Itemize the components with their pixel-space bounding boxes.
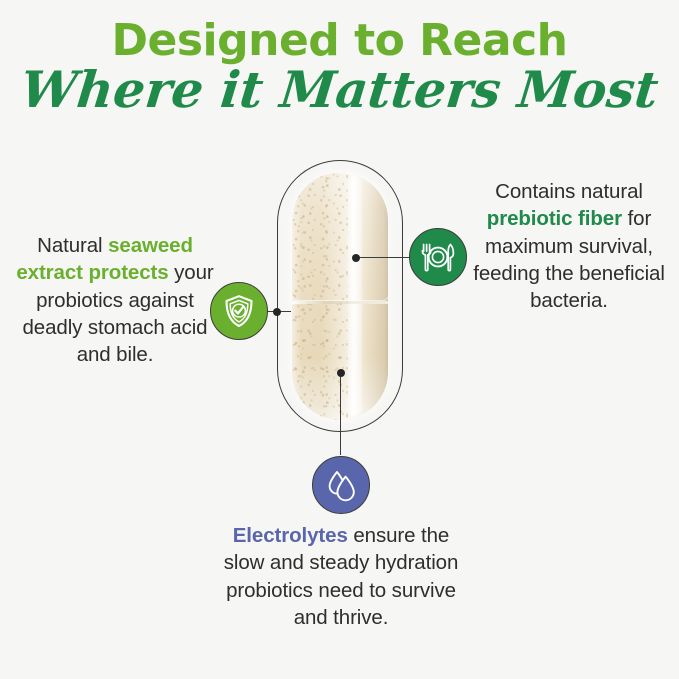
connector-dot-left — [273, 308, 281, 316]
infographic-canvas: Designed to Reach Where it Matters Most — [0, 0, 679, 679]
callout-text-bottom: Electrolytes ensure the slow and steady … — [222, 522, 460, 631]
plate-fork-knife-badge[interactable] — [409, 228, 467, 286]
capsule-seam — [292, 301, 388, 304]
connector-dot-right — [352, 254, 360, 262]
callout-left-prefix: Natural — [37, 234, 108, 257]
connector-dot-bottom — [337, 369, 345, 377]
callout-right-prefix: Contains natural — [495, 180, 643, 203]
shield-check-icon — [221, 293, 257, 329]
plate-fork-knife-icon — [419, 238, 457, 276]
callout-right-highlight: prebiotic fiber — [487, 207, 622, 230]
headline-line-1: Designed to Reach — [0, 18, 679, 64]
capsule-highlight — [346, 176, 362, 416]
connector-line-bottom — [340, 372, 341, 455]
water-droplets-icon — [323, 467, 359, 503]
headline-line-2: Where it Matters Most — [0, 64, 679, 117]
water-droplets-badge[interactable] — [312, 456, 370, 514]
callout-text-right: Contains natural prebiotic fiber for max… — [466, 178, 672, 314]
callout-text-left: Natural seaweed extract protects your pr… — [8, 232, 222, 368]
headline-block: Designed to Reach Where it Matters Most — [0, 18, 679, 117]
callout-bottom-highlight: Electrolytes — [233, 524, 348, 547]
